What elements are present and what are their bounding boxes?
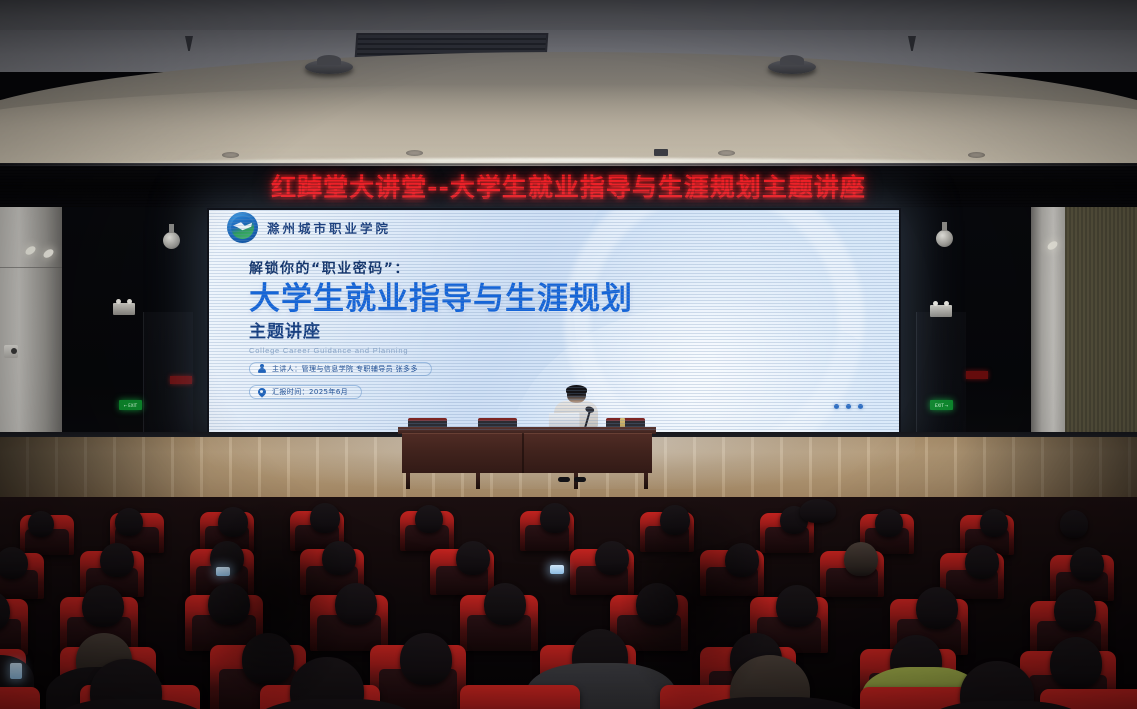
audience-head-capped: [800, 499, 836, 523]
wall-outlet-icon[interactable]: [4, 345, 18, 358]
table-leg: [476, 473, 480, 489]
person-icon: [257, 364, 266, 373]
audience-head: [1054, 589, 1096, 631]
slide-datetime-pill: 汇报时间：2025年6月: [249, 385, 362, 399]
auditorium-scene: 红踔堂大讲堂--大学生就业指导与生涯规划主题讲座 ←EXIT EXIT→: [0, 0, 1137, 709]
school-name-label: 滁州城市职业学院: [267, 218, 391, 237]
audience-head: [82, 585, 124, 627]
wall-column-left: [0, 207, 62, 457]
table-leg: [406, 473, 410, 489]
audience-head: [28, 511, 54, 537]
audience-head: [875, 509, 903, 537]
pager-dot[interactable]: [858, 404, 863, 409]
red-sign-icon: [170, 376, 192, 384]
ceiling-speaker-icon: [768, 60, 816, 74]
downlight-icon: [718, 150, 735, 156]
audience-head: [115, 508, 143, 536]
audience-aisle-shadow: [200, 497, 350, 709]
slide-content: 滁州城市职业学院 解锁你的“职业密码”： 大学生就业指导与生涯规划 主题讲座 C…: [209, 210, 899, 432]
audience-head: [844, 542, 878, 576]
wall-stage-light-icon: [930, 305, 952, 317]
table-leg: [644, 473, 648, 489]
presenter-table: [398, 427, 656, 489]
audience-head: [965, 545, 999, 579]
location-pin-icon: [257, 388, 266, 397]
wall-acoustic-panel-right: [1065, 207, 1137, 457]
audience-head: [400, 633, 452, 685]
ceiling-speaker-icon: [305, 60, 353, 74]
audience-head: [0, 547, 28, 579]
device-screen-glow: [550, 565, 564, 574]
audience-head: [540, 503, 570, 533]
seat[interactable]: [0, 687, 40, 709]
ceiling-sensor-icon: [654, 149, 668, 156]
audience-head: [1070, 547, 1104, 581]
presenter-shoe: [574, 477, 586, 482]
downlight-icon: [968, 152, 985, 158]
downlight-icon: [406, 150, 423, 156]
slide-kicker: 解锁你的“职业密码”：: [249, 258, 633, 278]
slide-header: 滁州城市职业学院: [227, 212, 391, 243]
audience-head: [916, 587, 958, 629]
projection-screen[interactable]: 滁州城市职业学院 解锁你的“职业密码”： 大学生就业指导与生涯规划 主题讲座 C…: [207, 208, 901, 434]
audience-aisle-shadow: [620, 497, 770, 709]
audience-head: [1050, 637, 1102, 689]
slide-subtitle: 主题讲座: [249, 317, 633, 342]
red-sign-icon: [966, 371, 988, 379]
slide-datetime-text: 汇报时间：2025年6月: [272, 387, 348, 397]
slide-presenter-pill: 主讲人：管理与信息学院 专职辅导员 张多多: [249, 362, 432, 376]
pager-dot[interactable]: [834, 404, 839, 409]
audience-head: [484, 583, 526, 625]
audience-head: [456, 541, 490, 575]
pager-dot[interactable]: [846, 404, 851, 409]
exit-sign-icon: ←EXIT: [119, 400, 142, 410]
ceiling-upper-slab: [0, 0, 1137, 34]
audience-area: [0, 497, 1137, 709]
slide-english-title: College Career Guidance and Planning: [249, 346, 633, 355]
dome-camera-icon: [163, 232, 180, 249]
seat[interactable]: [460, 685, 580, 709]
dome-camera-icon: [936, 230, 953, 247]
wall-stage-light-icon: [113, 303, 135, 315]
projection-screen-surface: 滁州城市职业学院 解锁你的“职业密码”： 大学生就业指导与生涯规划 主题讲座 C…: [209, 210, 899, 432]
audience-head: [776, 585, 818, 627]
audience-head: [415, 505, 443, 533]
exit-sign-icon: EXIT→: [930, 400, 953, 410]
slide-title: 大学生就业指导与生涯规划: [249, 283, 633, 316]
audience-head: [1060, 510, 1088, 538]
device-screen-glow: [10, 663, 22, 679]
audience-head: [980, 509, 1008, 537]
audience-head: [100, 543, 134, 577]
slide-presenter-text: 主讲人：管理与信息学院 专职辅导员 张多多: [272, 364, 418, 374]
downlight-icon: [222, 152, 239, 158]
slide-pager-dots[interactable]: [834, 404, 863, 409]
slide-body: 解锁你的“职业密码”： 大学生就业指导与生涯规划 主题讲座 College Ca…: [249, 258, 633, 402]
table-front-panel: [402, 433, 652, 473]
presenter-shoe: [558, 477, 570, 482]
led-banner-text: 红踔堂大讲堂--大学生就业指导与生涯规划主题讲座: [0, 164, 1137, 208]
school-crest-icon: [227, 212, 258, 243]
